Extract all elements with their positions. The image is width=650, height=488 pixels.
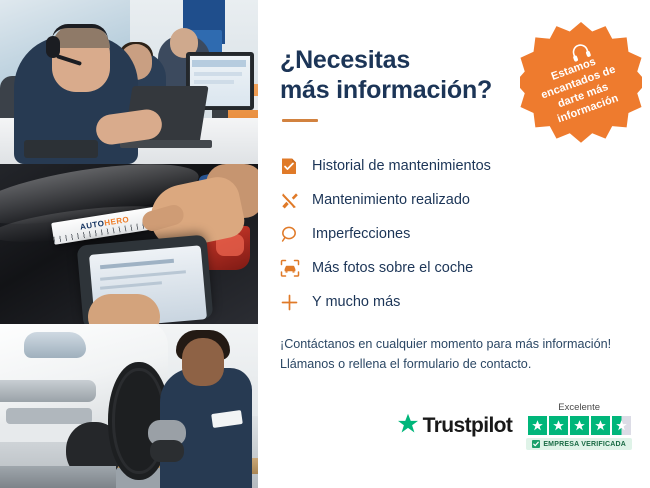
front-grille bbox=[0, 380, 96, 402]
rating-label: Excelente bbox=[558, 402, 600, 413]
feature-label: Y mucho más bbox=[312, 294, 400, 310]
plus-icon bbox=[280, 293, 312, 312]
headlight bbox=[24, 332, 86, 358]
car-scan-icon bbox=[280, 259, 312, 278]
star-rating bbox=[528, 416, 631, 435]
tablet-holding-hand bbox=[88, 294, 160, 324]
feature-label: Historial de mantenimientos bbox=[312, 158, 491, 174]
car-inspection-photo: AUTOHERO bbox=[0, 164, 258, 324]
clipboard-check-icon bbox=[280, 156, 312, 176]
contact-line-1: ¡Contáctanos en cualquier momento para m… bbox=[280, 334, 628, 354]
magnifier-icon bbox=[280, 225, 312, 244]
car-lift-ramp bbox=[0, 466, 116, 488]
feature-item-mantenimiento: Mantenimiento realizado bbox=[280, 184, 628, 216]
feature-label: Mantenimiento realizado bbox=[312, 192, 470, 208]
wrench-screwdriver-icon bbox=[280, 191, 312, 210]
monitor-row bbox=[192, 60, 246, 67]
mechanic-glove bbox=[150, 440, 184, 462]
content-panel: ¿Necesitas más información? Estamos enca… bbox=[258, 0, 650, 488]
verified-badge: EMPRESA VERIFICADA bbox=[526, 438, 632, 450]
photo-column: AUTOHERO bbox=[0, 0, 258, 488]
monitor-row bbox=[194, 80, 234, 84]
mechanic-head bbox=[182, 338, 224, 386]
headset-band bbox=[52, 24, 108, 40]
check-box-icon bbox=[532, 440, 540, 448]
page-title: ¿Necesitas más información? bbox=[280, 46, 510, 105]
monitor-row bbox=[194, 72, 242, 76]
info-badge: Estamos encantados de darte más informac… bbox=[520, 22, 642, 144]
trustpilot-wordmark: Trustpilot bbox=[423, 414, 513, 438]
lower-grille bbox=[6, 408, 92, 424]
feature-item-historial: Historial de mantenimientos bbox=[280, 150, 628, 182]
feature-label: Más fotos sobre el coche bbox=[312, 260, 473, 276]
star-filled bbox=[528, 416, 547, 435]
trustpilot-widget[interactable]: Trustpilot Excelente EMPRESA VERIFICADA bbox=[397, 402, 632, 450]
star-filled bbox=[570, 416, 589, 435]
trustpilot-rating-block: Excelente EMPRESA VERIFICADA bbox=[526, 402, 632, 450]
feature-item-imperfecciones: Imperfecciones bbox=[280, 218, 628, 250]
title-underline bbox=[282, 119, 318, 122]
trustpilot-star-icon bbox=[397, 413, 419, 439]
trustpilot-logo: Trustpilot bbox=[397, 413, 513, 439]
info-promo-card: AUTOHERO bbox=[0, 0, 650, 488]
feature-item-mas: Y mucho más bbox=[280, 286, 628, 318]
feature-item-fotos: Más fotos sobre el coche bbox=[280, 252, 628, 284]
wheel-check-photo bbox=[0, 324, 258, 488]
feature-list: Historial de mantenimientos Mantenimient… bbox=[280, 150, 628, 318]
contact-text: ¡Contáctanos en cualquier momento para m… bbox=[280, 334, 628, 375]
star-filled bbox=[591, 416, 610, 435]
feature-label: Imperfecciones bbox=[312, 226, 410, 242]
star-half bbox=[612, 416, 631, 435]
contact-line-2: Llámanos o rellena el formulario de cont… bbox=[280, 354, 628, 374]
call-center-agents-photo bbox=[0, 0, 258, 164]
verified-label: EMPRESA VERIFICADA bbox=[543, 441, 626, 448]
star-filled bbox=[549, 416, 568, 435]
headline-line-1: ¿Necesitas bbox=[280, 46, 410, 74]
headline-line-2: más información? bbox=[280, 76, 492, 104]
desk-tablet bbox=[24, 140, 98, 158]
